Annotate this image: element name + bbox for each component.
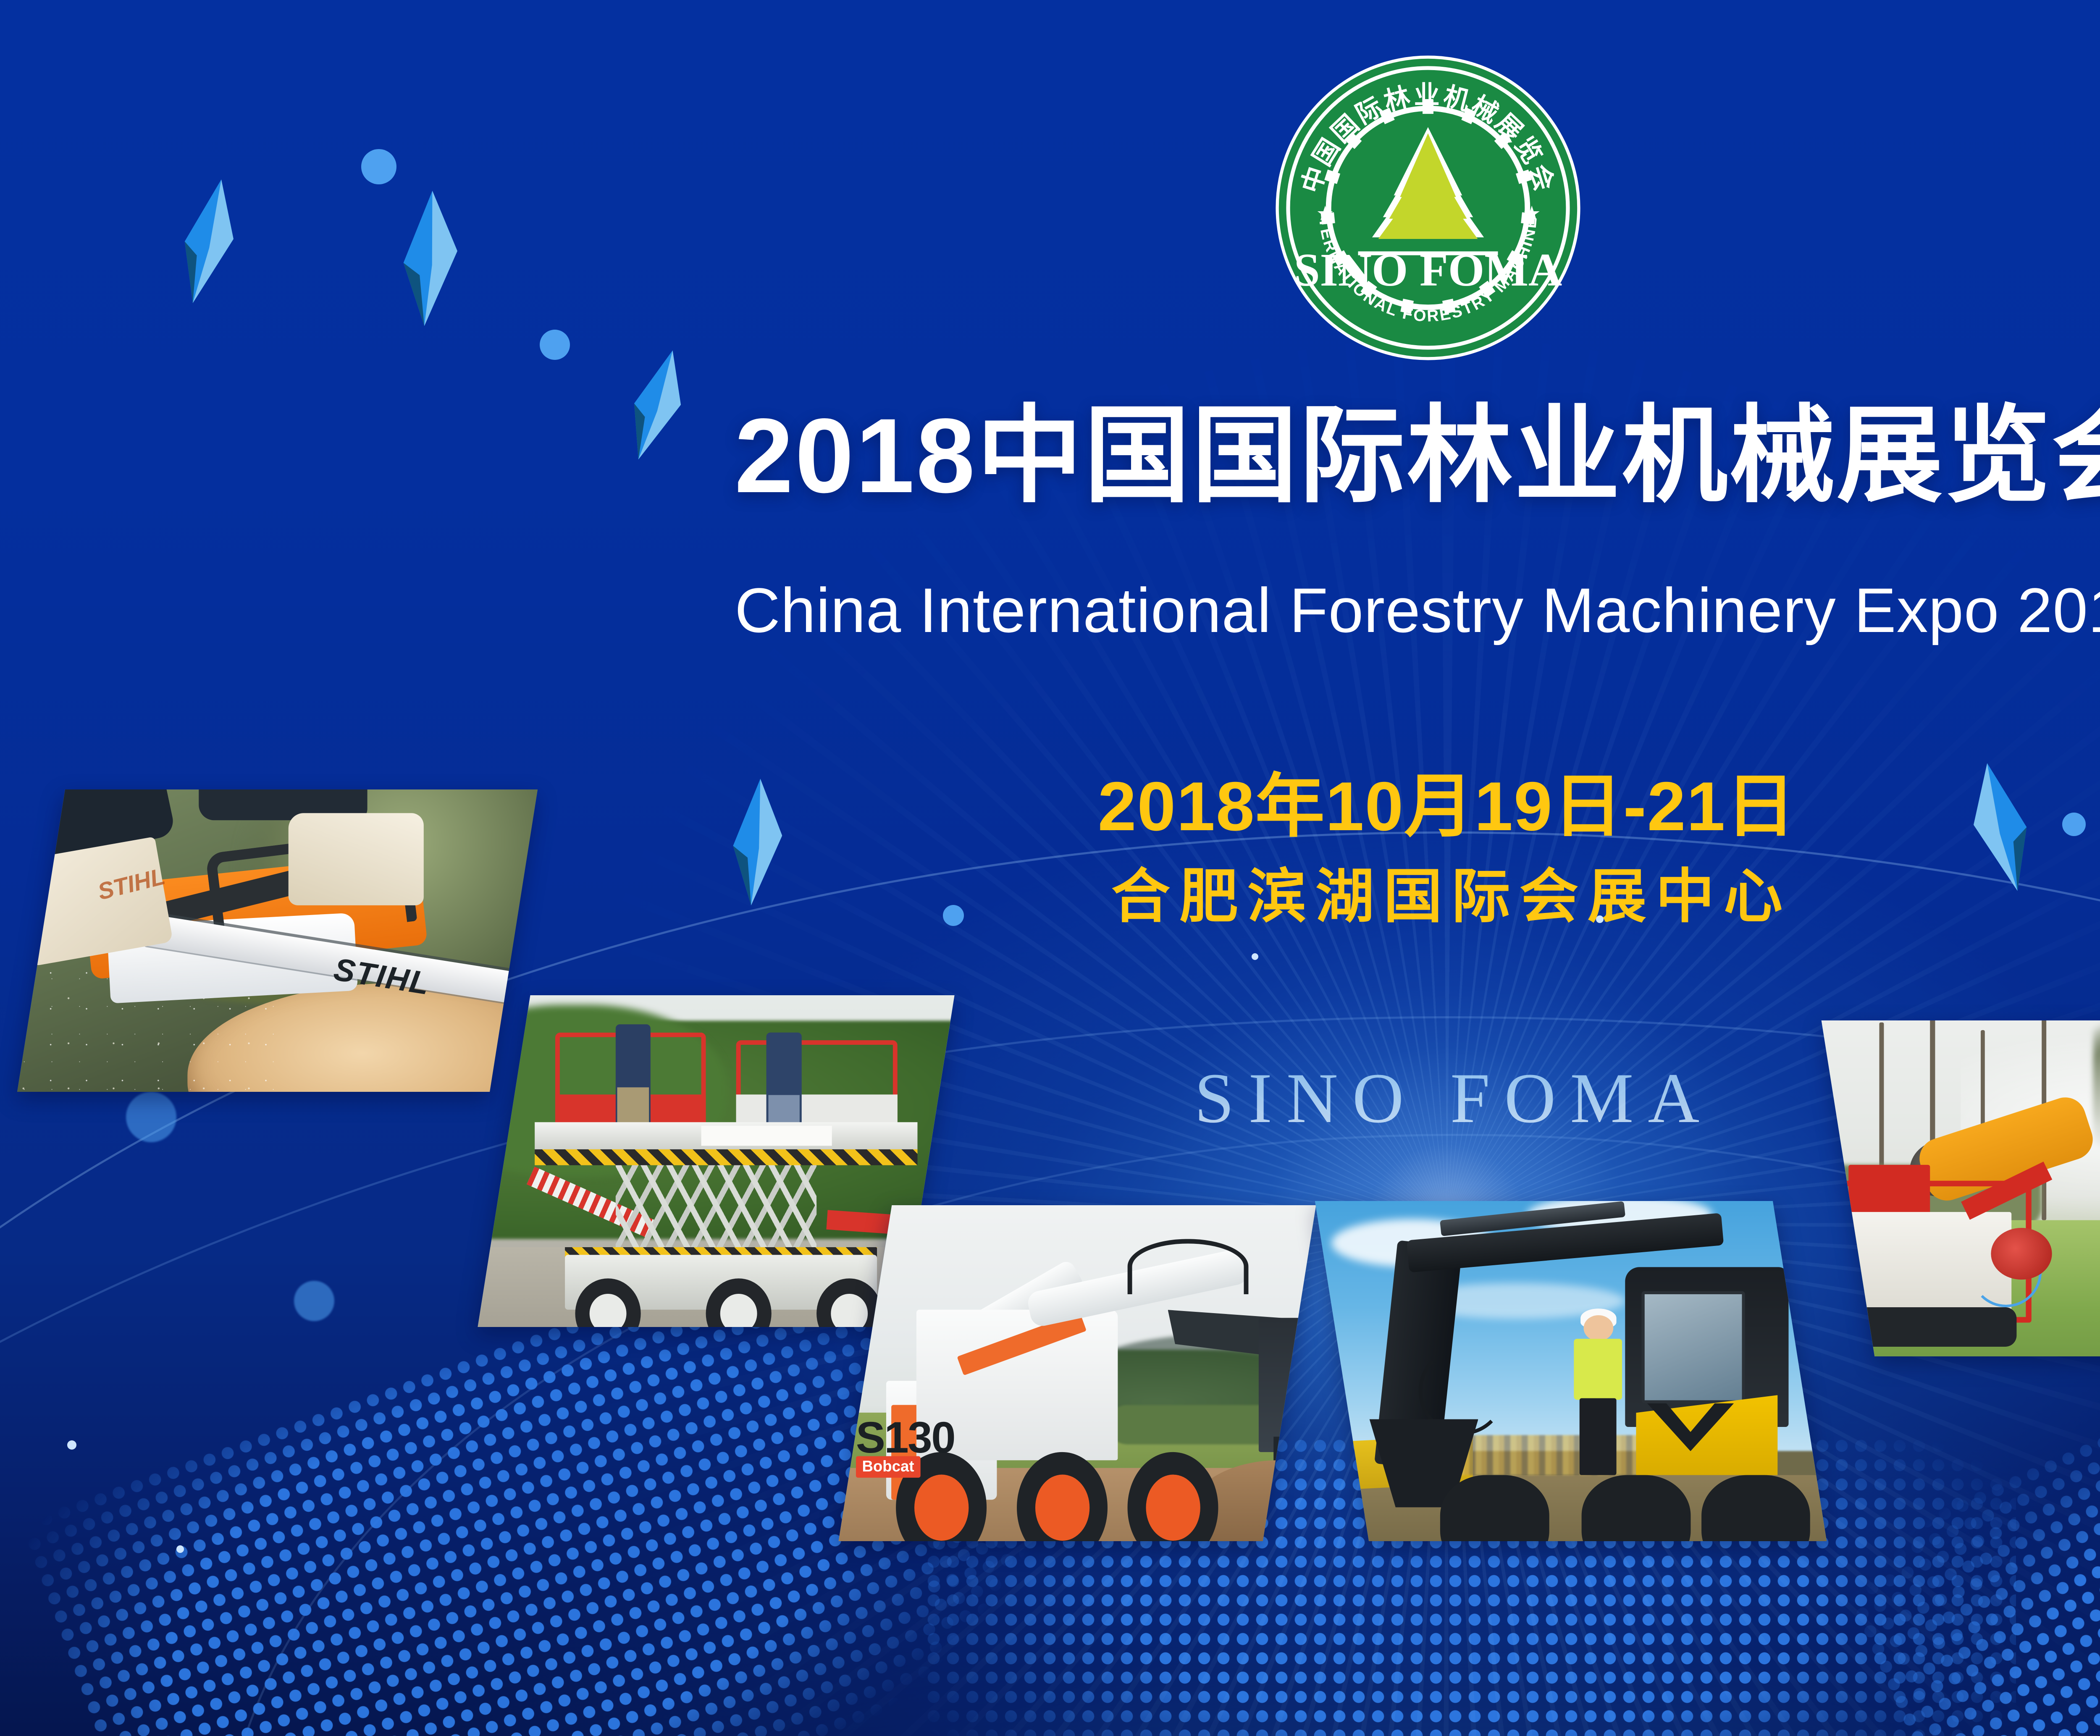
bokeh-dot [294, 1281, 334, 1321]
crystal-shape-1 [178, 176, 240, 307]
crystal-shape-2 [399, 189, 462, 327]
logo-star-right: ★ [1523, 202, 1541, 225]
photo-tile-skid-steer: S130 Bobcat [839, 1205, 1316, 1541]
bokeh-dot [67, 1440, 76, 1450]
photo-tile-harvester [1315, 1201, 1827, 1541]
bokeh-dot [361, 149, 396, 184]
bokeh-dot [540, 330, 570, 360]
logo-star-left: ★ [1316, 202, 1334, 225]
page-title-cn: 2018中国国际林业机械展览会 [0, 403, 2100, 509]
photo-tile-chainsaw: STIHL STIHL [17, 789, 538, 1092]
bokeh-dot [176, 1545, 184, 1553]
page-title-en: China International Forestry Machinery E… [0, 579, 2100, 642]
promo-banner: SINO FOMA 中国国际林业机械展览会 CHINA INTERNATIONA… [0, 0, 2100, 1736]
bokeh-dot [1252, 953, 1258, 960]
sino-foma-logo: SINO FOMA 中国国际林业机械展览会 CHINA INTERNATIONA… [1273, 52, 1583, 363]
photo-tile-mist-sprayer [1822, 1020, 2100, 1356]
photo-brand-text: Bobcat [856, 1456, 920, 1478]
